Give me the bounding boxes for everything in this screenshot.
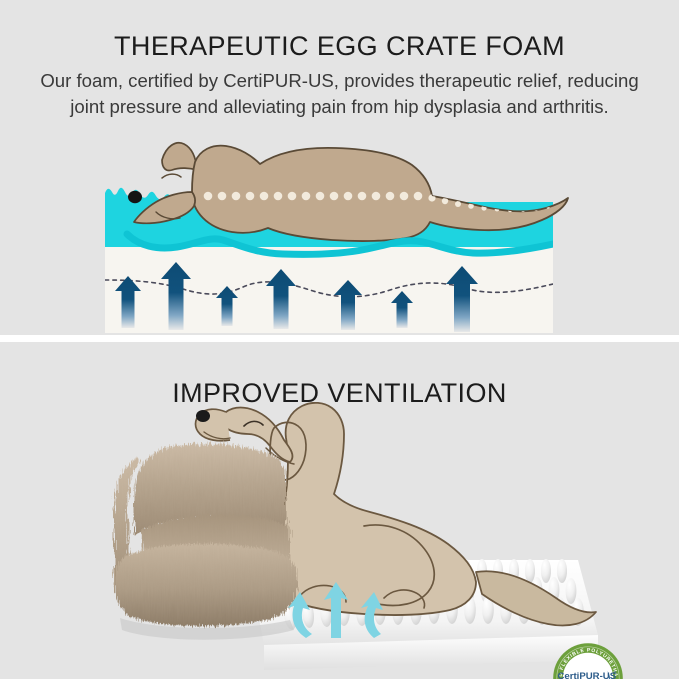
section-therapeutic-foam: THERAPEUTIC EGG CRATE FOAM Our foam, cer…: [0, 0, 679, 335]
section-title-therapeutic-foam: THERAPEUTIC EGG CRATE FOAM: [0, 29, 679, 63]
illustration-foam-cross-section: [0, 140, 679, 335]
illustration-ventilation: CERTIFIED FLEXIBLE POLYURETHANE FOAM WWW…: [0, 402, 679, 679]
dog-bed-scene: [78, 402, 638, 679]
certipur-badge-svg: CERTIFIED FLEXIBLE POLYURETHANE FOAM WWW…: [552, 642, 624, 679]
section-improved-ventilation: IMPROVED VENTILATION: [0, 342, 679, 679]
section-body-therapeutic-foam: Our foam, certified by CertiPUR-US, prov…: [26, 68, 653, 119]
dog-bed-svg: [78, 402, 638, 679]
section-divider: [0, 335, 679, 342]
furry-bolster-bed: [114, 444, 298, 640]
certipur-us-badge: CERTIFIED FLEXIBLE POLYURETHANE FOAM WWW…: [552, 642, 624, 679]
foam-contour-highlight: [105, 228, 553, 260]
badge-wordmark: CertiPUR-US: [557, 671, 616, 679]
pressure-relief-arrows: [105, 260, 553, 335]
product-feature-graphic: THERAPEUTIC EGG CRATE FOAM Our foam, cer…: [0, 0, 679, 679]
